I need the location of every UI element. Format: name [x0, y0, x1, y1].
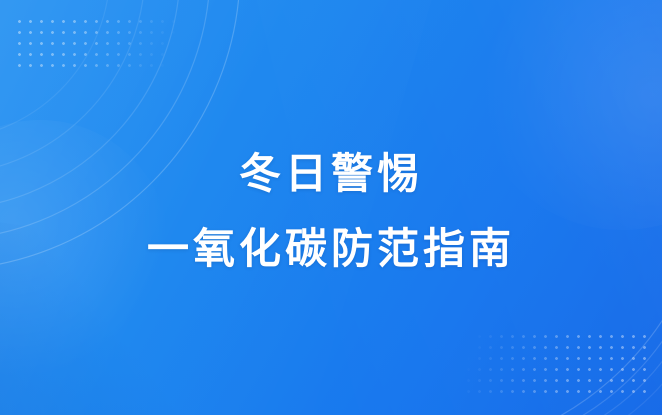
promo-banner: 冬日警惕 一氧化碳防范指南	[0, 0, 662, 415]
banner-title-block: 冬日警惕 一氧化碳防范指南	[0, 0, 662, 415]
banner-title-line-1: 冬日警惕	[239, 140, 423, 201]
banner-title-line-2: 一氧化碳防范指南	[147, 215, 515, 276]
